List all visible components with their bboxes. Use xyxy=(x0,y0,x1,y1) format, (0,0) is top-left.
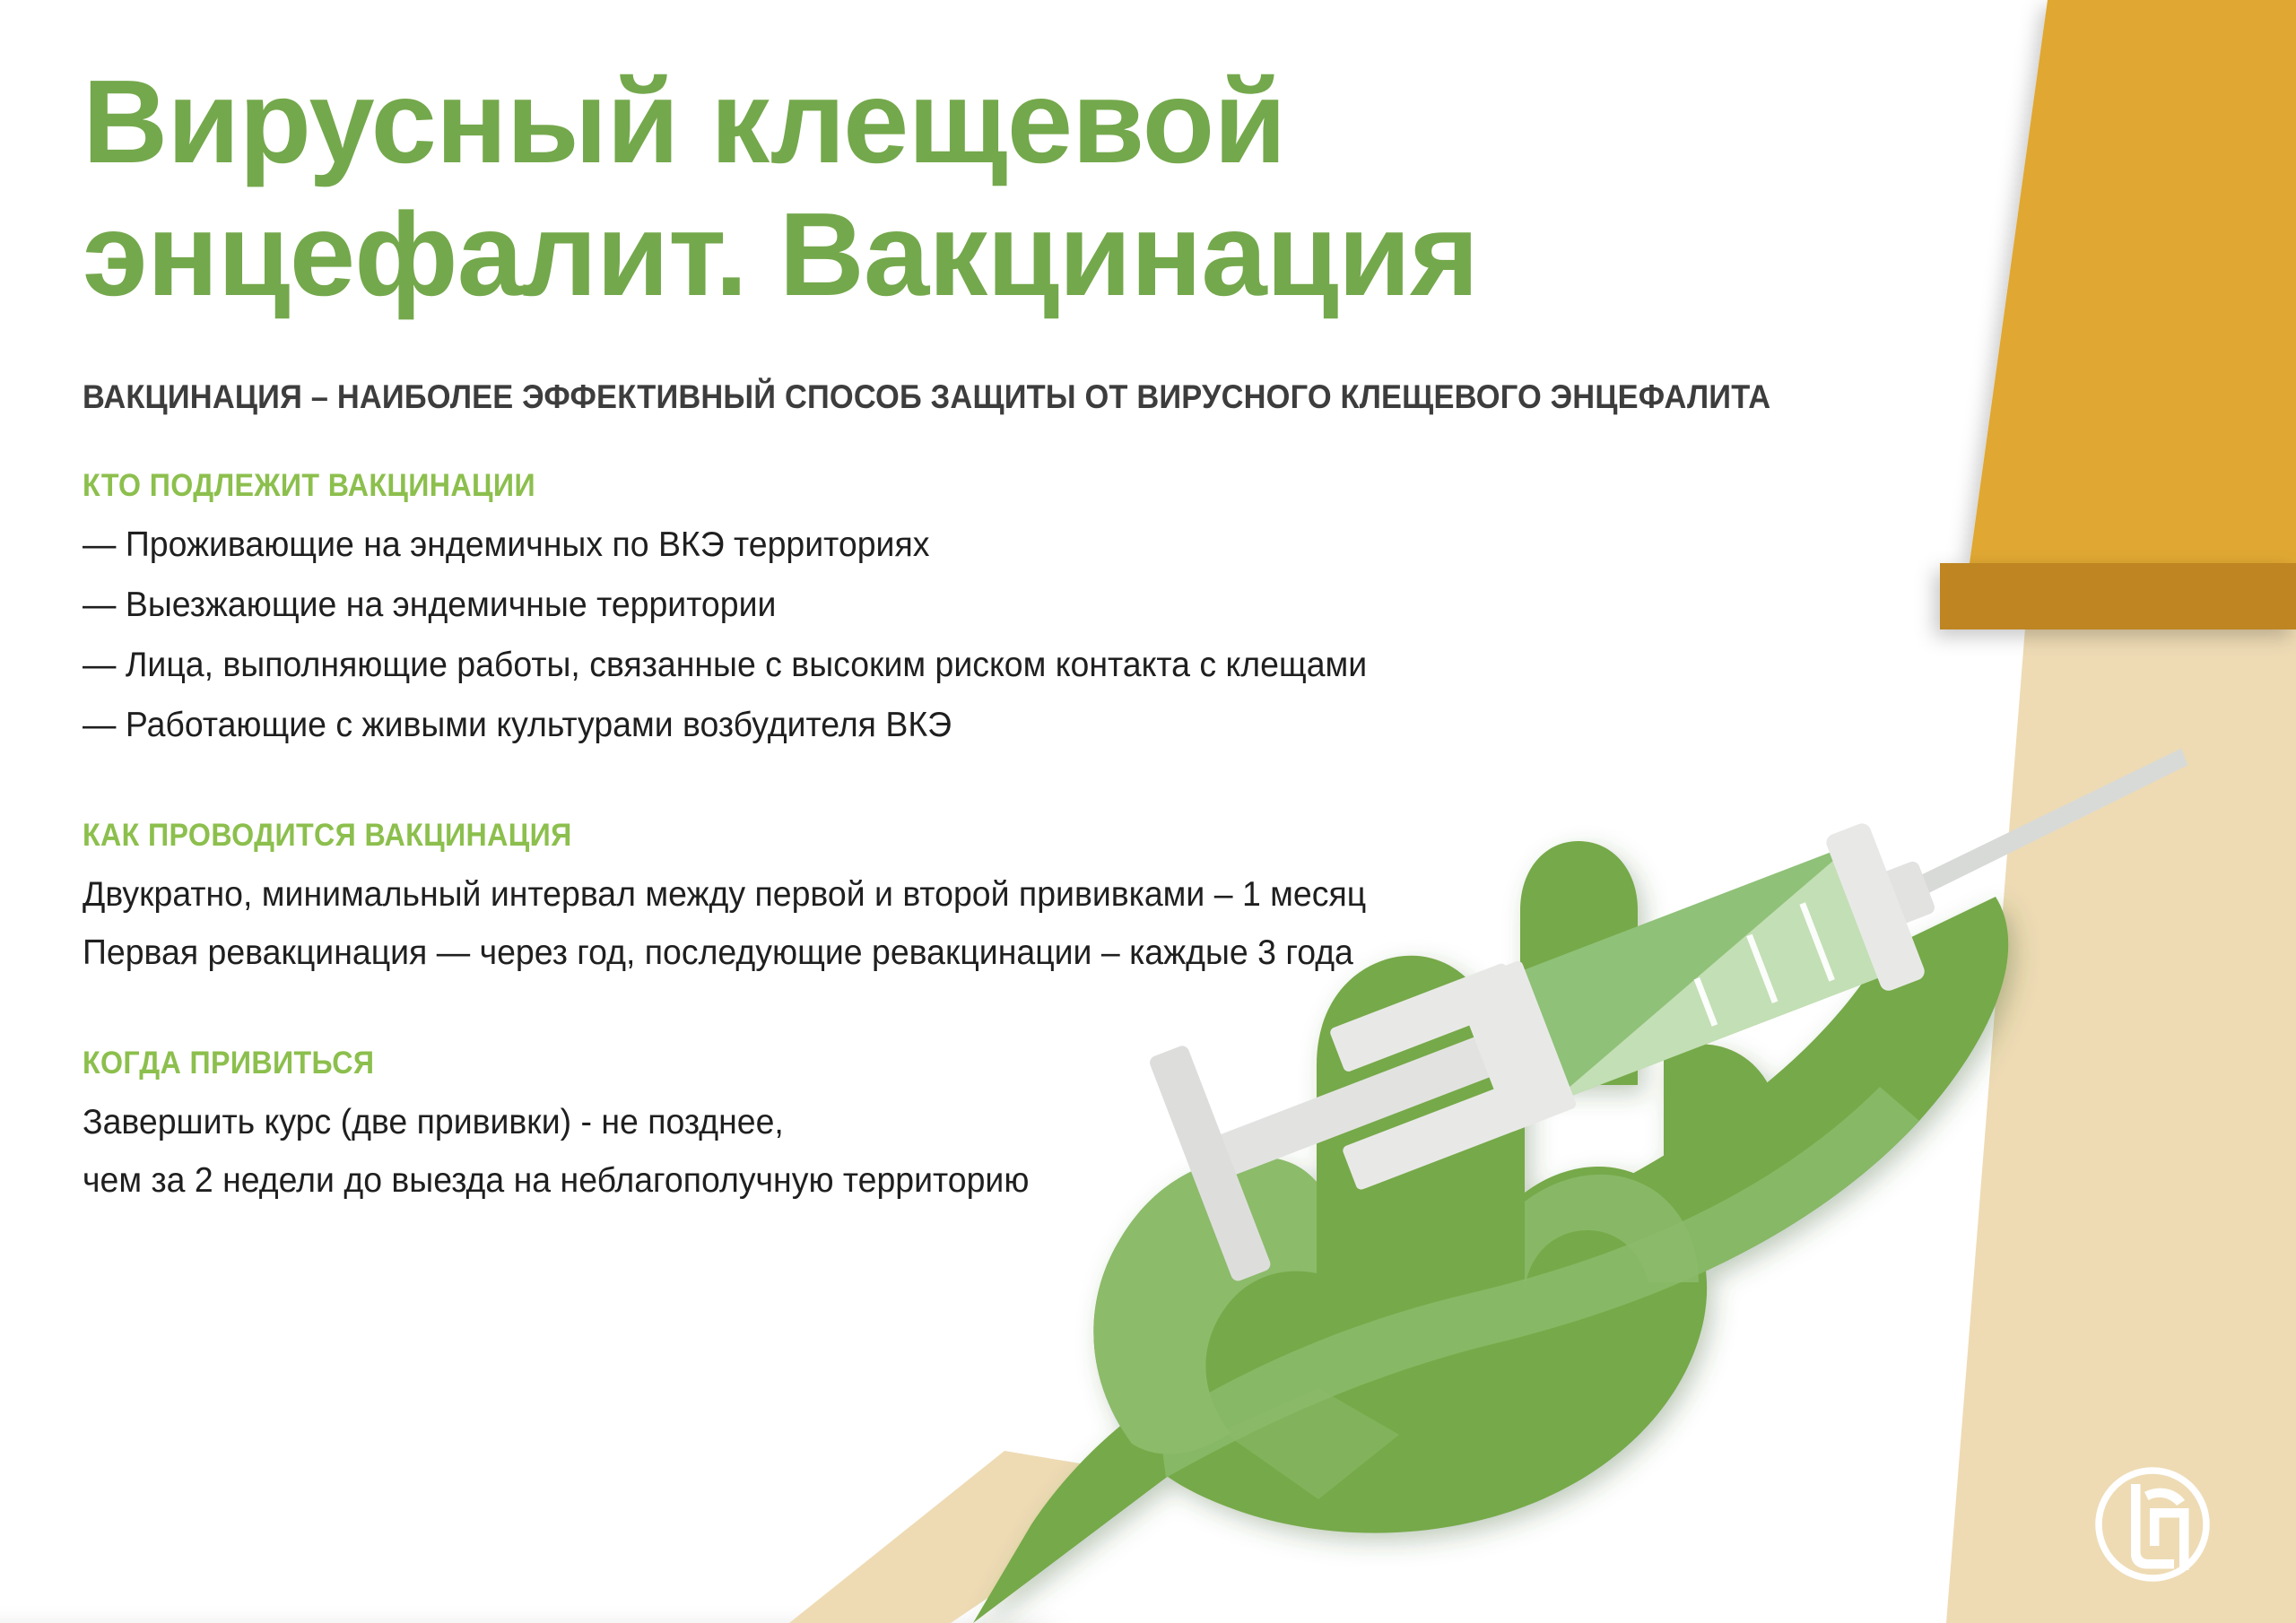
illustration-forearm xyxy=(789,1451,1166,1623)
section-when-to-vaccinate: КОГДА ПРИВИТЬСЯ Завершить курс (две прив… xyxy=(83,1046,1876,1198)
page-title: Вирусный клещевой энцефалит. Вакцинация xyxy=(83,56,1876,321)
list-item: Завершить курс (две прививки) - не поздн… xyxy=(83,1105,1805,1140)
organization-logo xyxy=(2085,1457,2220,1592)
list-item: — Работающие с живыми культурами возбуди… xyxy=(83,707,1805,742)
poster-text-column: Вирусный клещевой энцефалит. Вакцинация … xyxy=(83,56,1876,1198)
list-item: — Выезжающие на эндемичные территории xyxy=(83,587,1805,622)
list-item: Двукратно, минимальный интервал между пе… xyxy=(83,877,1805,912)
section-heading: КТО ПОДЛЕЖИТ ВАКЦИНАЦИИ xyxy=(83,468,1733,504)
circular-monogram-logo-icon xyxy=(2085,1457,2220,1592)
section-who-should-vaccinate: КТО ПОДЛЕЖИТ ВАКЦИНАЦИИ — Проживающие на… xyxy=(83,468,1876,742)
syringe-needle xyxy=(1910,749,2197,895)
poster-canvas: Вирусный клещевой энцефалит. Вакцинация … xyxy=(0,0,2296,1623)
section-heading: КОГДА ПРИВИТЬСЯ xyxy=(83,1046,1733,1081)
syringe-hub xyxy=(1866,860,1936,931)
list-item: Первая ревакцинация — через год, последу… xyxy=(83,935,1805,970)
decor-gold-band xyxy=(1940,563,2296,629)
section-how-vaccination-performed: КАК ПРОВОДИТСЯ ВАКЦИНАЦИЯ Двукратно, мин… xyxy=(83,818,1876,970)
list-item: — Лица, выполняющие работы, связанные с … xyxy=(83,647,1805,682)
list-item: чем за 2 недели до выезда на неблагополу… xyxy=(83,1163,1805,1198)
section-heading: КАК ПРОВОДИТСЯ ВАКЦИНАЦИЯ xyxy=(83,818,1733,854)
list-item: — Проживающие на эндемичных по ВКЭ терри… xyxy=(83,527,1805,562)
decor-orange-trapezoid xyxy=(1970,0,2296,563)
poster-subtitle: ВАКЦИНАЦИЯ – НАИБОЛЕЕ ЭФФЕКТИВНЫЙ СПОСОБ… xyxy=(83,378,1751,416)
